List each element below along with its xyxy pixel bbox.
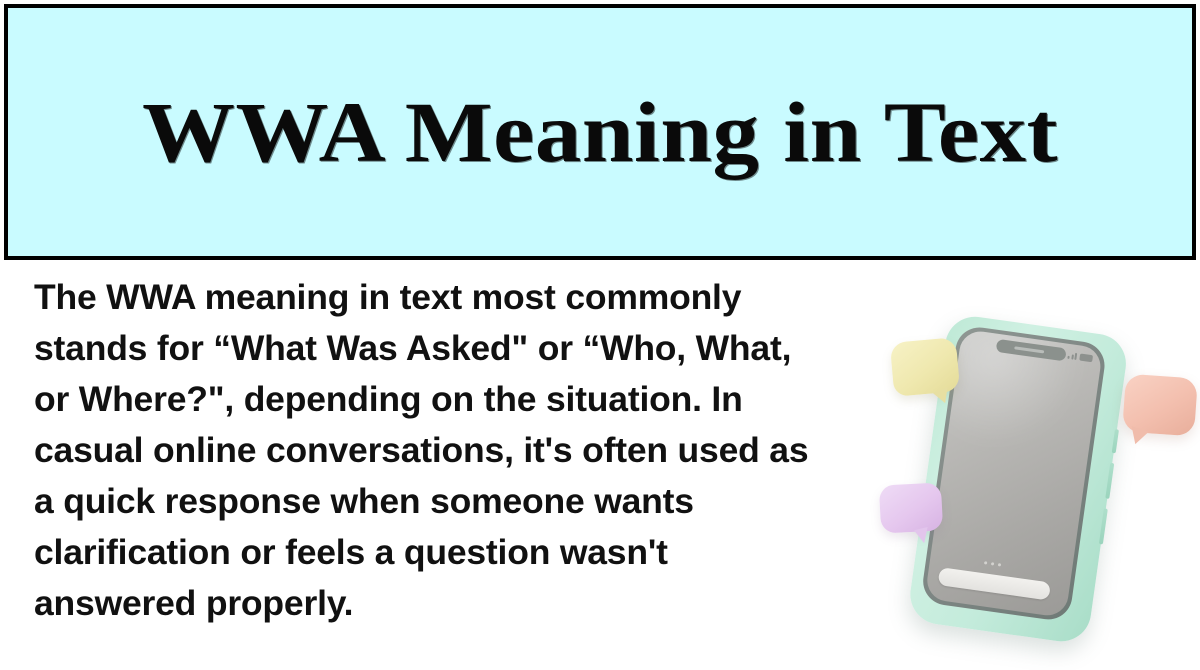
body-paragraph: The WWA meaning in text most commonly st… — [34, 272, 864, 629]
body-line: a quick response when someone wants — [34, 476, 864, 527]
body-line: clarification or feels a question wasn't — [34, 527, 864, 578]
body-line: stands for “What Was Asked" or “Who, Wha… — [34, 323, 864, 374]
body-line: The WWA meaning in text most commonly — [34, 272, 864, 323]
phone-side-button-volume-up — [1105, 463, 1114, 499]
body-line: or Where?", depending on the situation. … — [34, 374, 864, 425]
page-title: WWA Meaning in Text — [142, 89, 1058, 175]
page-root: WWA Meaning in Text The WWA meaning in t… — [0, 0, 1200, 670]
chat-bubble-pink-icon — [1122, 374, 1198, 437]
phone-illustration — [866, 318, 1200, 670]
phone-side-button-mute — [1112, 429, 1119, 453]
body-line: answered properly. — [34, 578, 864, 629]
chat-bubble-yellow-icon — [890, 337, 960, 397]
typing-indicator-icon — [984, 561, 1001, 566]
body-line: casual online conversations, it's often … — [34, 425, 864, 476]
phone-side-button-volume-down — [1099, 508, 1108, 544]
earpiece-speaker-icon — [1014, 346, 1044, 353]
chat-bubble-purple-icon — [879, 482, 943, 533]
home-indicator-bar — [938, 567, 1051, 600]
header-banner: WWA Meaning in Text — [4, 4, 1196, 260]
signal-bars-icon — [1067, 352, 1077, 360]
